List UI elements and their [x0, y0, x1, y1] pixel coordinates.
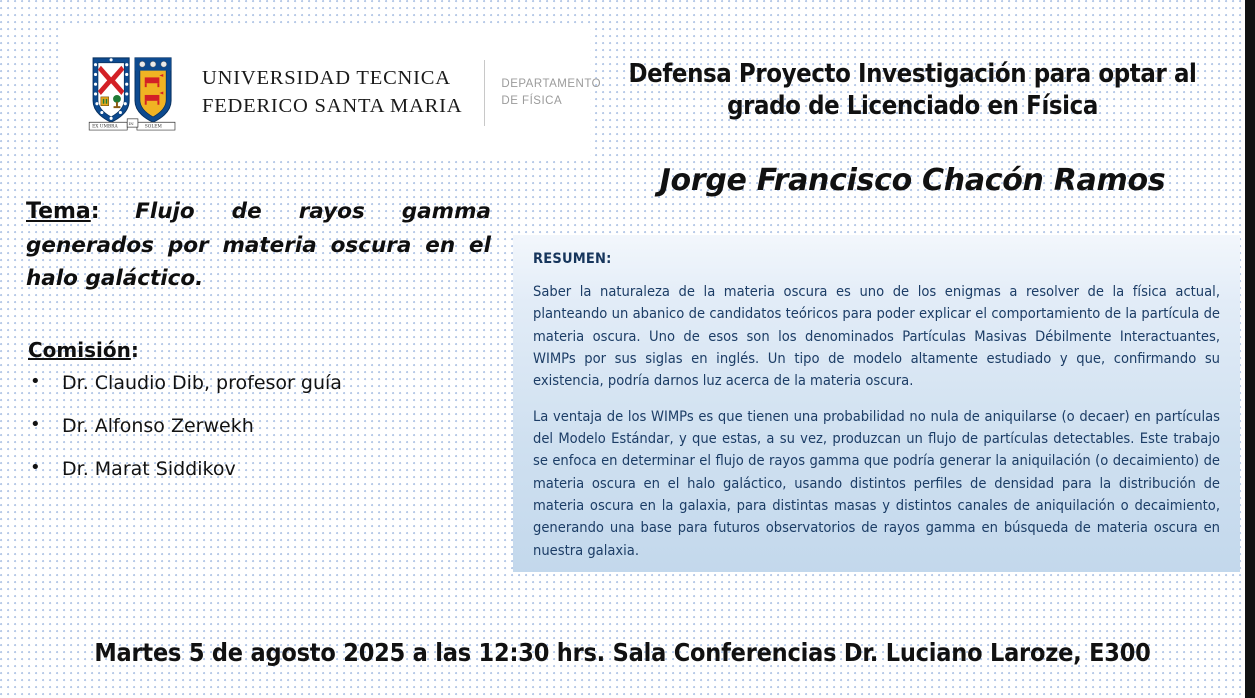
- university-name-line2: FEDERICO SANTA MARIA: [202, 93, 462, 120]
- resumen-paragraph: La ventaja de los WIMPs es que tienen un…: [533, 406, 1220, 562]
- comision-member-name: Dr. Alfonso Zerwekh: [62, 415, 254, 437]
- resumen-box: RESUMEN: Saber la naturaleza de la mater…: [513, 235, 1240, 572]
- utfsm-crest-icon: EX UMBRA IN SOLEM: [86, 54, 184, 132]
- department-name-line1: DEPARTAMENTO: [501, 76, 601, 93]
- institution-logo-panel: EX UMBRA IN SOLEM UNIVERSIDAD TECNICA FE…: [62, 27, 590, 158]
- event-title: Defensa Proyecto Investigación para opta…: [600, 58, 1225, 122]
- event-details-footer: Martes 5 de agosto 2025 a las 12:30 hrs.…: [0, 638, 1245, 667]
- poster-canvas: EX UMBRA IN SOLEM UNIVERSIDAD TECNICA FE…: [0, 0, 1255, 698]
- tema-block: Tema: Flujo de rayos gamma generados por…: [26, 195, 491, 296]
- comision-member-name: Dr. Marat Siddikov: [62, 458, 236, 480]
- resumen-paragraph: Saber la naturaleza de la materia oscura…: [533, 281, 1220, 393]
- logo-divider: [484, 60, 485, 126]
- right-edge-strip: [1245, 0, 1255, 698]
- tema-colon: :: [91, 199, 100, 224]
- resumen-title: RESUMEN:: [533, 251, 1220, 267]
- department-name: DEPARTAMENTO DE FÍSICA: [501, 76, 601, 109]
- svg-text:IN: IN: [129, 121, 135, 126]
- list-item: • Dr. Alfonso Zerwekh: [28, 415, 478, 439]
- svg-text:EX UMBRA: EX UMBRA: [92, 124, 118, 129]
- comision-label-text: Comisión: [28, 338, 131, 362]
- list-item: • Dr. Claudio Dib, profesor guía: [28, 372, 478, 396]
- comision-label: Comisión:: [28, 338, 139, 362]
- bullet-icon: •: [30, 457, 41, 480]
- bullet-icon: •: [30, 414, 41, 437]
- svg-text:SOLEM: SOLEM: [145, 124, 163, 129]
- university-name: UNIVERSIDAD TECNICA FEDERICO SANTA MARIA: [202, 65, 462, 119]
- student-name: Jorge Francisco Chacón Ramos: [600, 163, 1225, 198]
- comision-list: • Dr. Claudio Dib, profesor guía • Dr. A…: [28, 372, 478, 500]
- comision-member-name: Dr. Claudio Dib, profesor guía: [62, 372, 342, 394]
- bullet-icon: •: [30, 371, 41, 394]
- department-name-line2: DE FÍSICA: [501, 93, 601, 110]
- university-name-line1: UNIVERSIDAD TECNICA: [202, 65, 462, 92]
- list-item: • Dr. Marat Siddikov: [28, 458, 478, 482]
- comision-colon: :: [131, 338, 139, 362]
- tema-label: Tema: [26, 199, 91, 224]
